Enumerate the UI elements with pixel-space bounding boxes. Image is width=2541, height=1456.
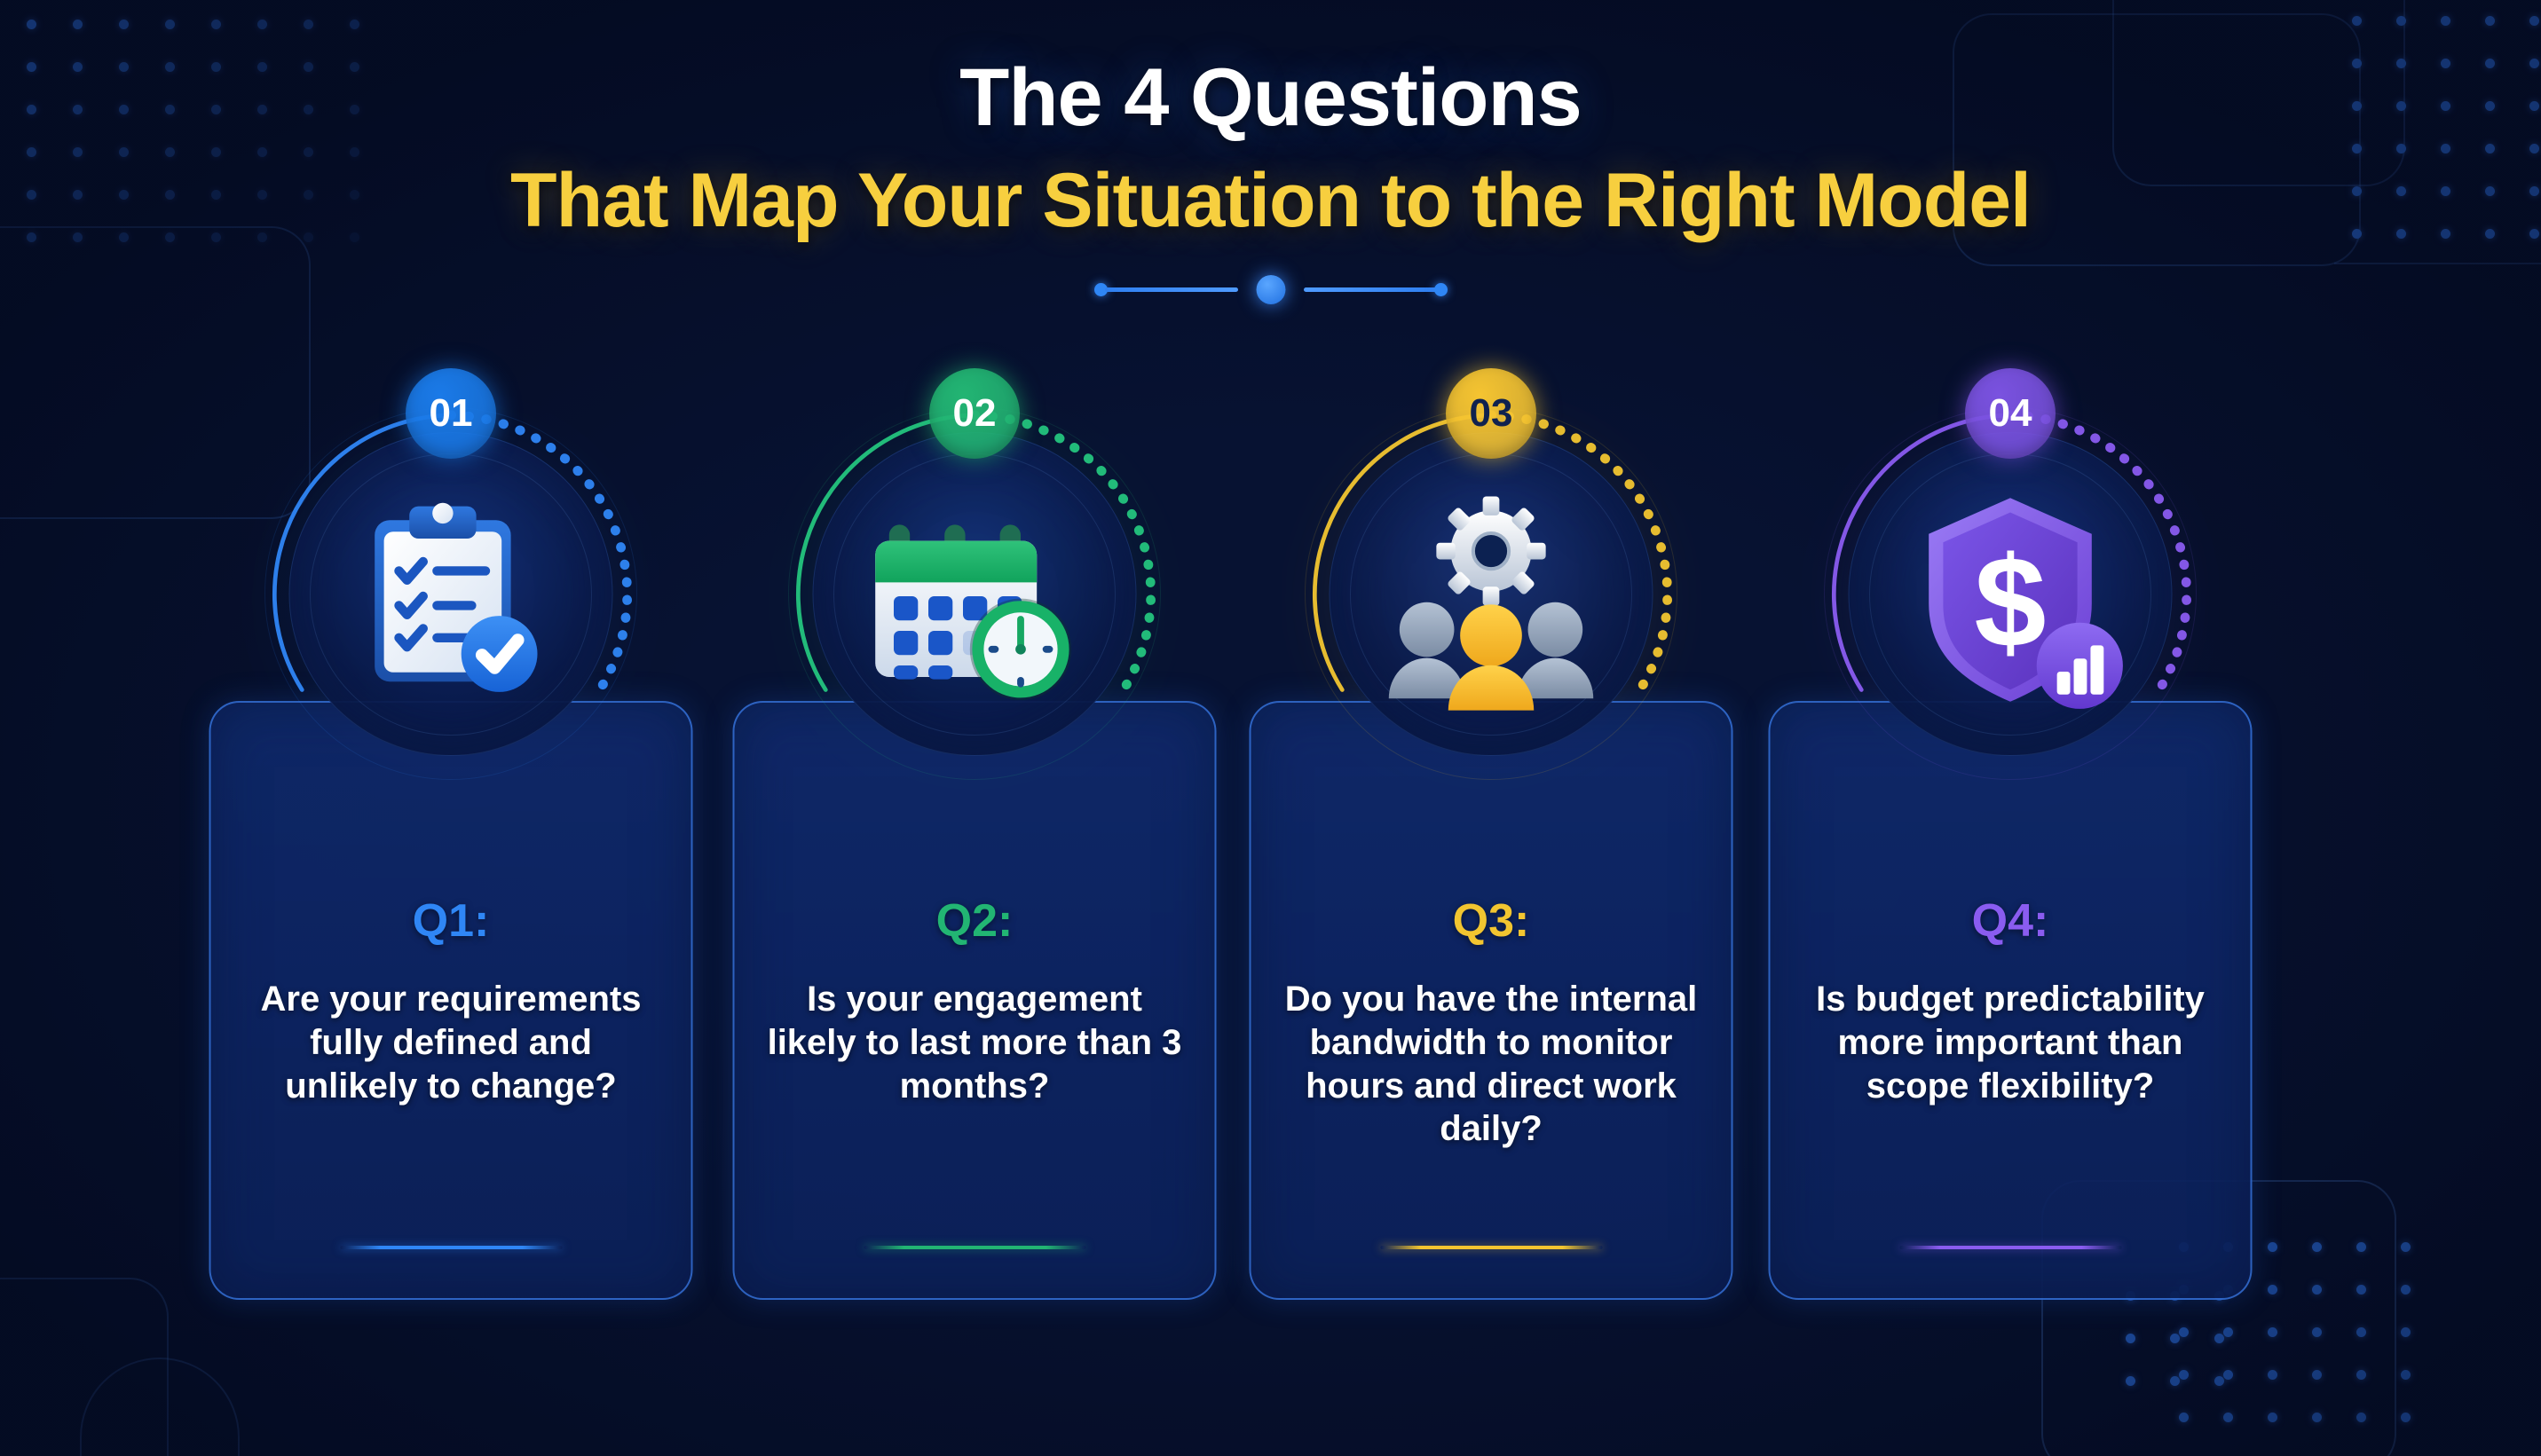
icon-ring-1: 01 bbox=[238, 368, 664, 794]
card-accent-line-4 bbox=[1899, 1246, 2121, 1249]
question-label-4: Q4: bbox=[1972, 898, 2049, 944]
page-title-line-1: The 4 Questions bbox=[0, 51, 2541, 145]
shield-dollar-icon: $ bbox=[1890, 476, 2130, 716]
page-title-line-2: That Map Your Situation to the Right Mod… bbox=[0, 157, 2541, 245]
clipboard-checklist-icon bbox=[322, 468, 580, 725]
question-text-4: Is budget predictability more important … bbox=[1794, 978, 2228, 1107]
question-text-1: Are your requirements fully defined and … bbox=[234, 978, 668, 1107]
step-number-badge-4: 04 bbox=[1965, 368, 2056, 459]
step-number-badge-2: 02 bbox=[929, 368, 1020, 459]
question-text-3: Do you have the internal bandwidth to mo… bbox=[1274, 978, 1708, 1151]
gear-team-icon bbox=[1362, 468, 1620, 725]
card-accent-line-1 bbox=[340, 1246, 562, 1249]
step-number-badge-1: 01 bbox=[406, 368, 496, 459]
divider-line-left bbox=[1105, 287, 1238, 292]
divider-center-dot bbox=[1256, 275, 1285, 304]
question-label-2: Q2: bbox=[936, 898, 1014, 944]
calendar-clock-icon bbox=[859, 481, 1090, 712]
divider-line-right bbox=[1304, 287, 1437, 292]
shield-dollar-icon: $ bbox=[1882, 468, 2139, 725]
step-number-badge-3: 03 bbox=[1446, 368, 1536, 459]
question-label-1: Q1: bbox=[413, 898, 490, 944]
gear-team-icon bbox=[1372, 477, 1610, 715]
card-accent-line-2 bbox=[864, 1246, 1085, 1249]
page-header: The 4 Questions That Map Your Situation … bbox=[0, 0, 2541, 307]
svg-text:$: $ bbox=[1974, 530, 2046, 674]
icon-ring-4: $ 04 bbox=[1797, 368, 2223, 794]
icon-ring-2: 02 bbox=[762, 368, 1188, 794]
clipboard-checklist-icon bbox=[335, 481, 566, 712]
question-text-2: Is your engagement likely to last more t… bbox=[758, 978, 1192, 1107]
calendar-clock-icon bbox=[846, 468, 1103, 725]
card-accent-line-3 bbox=[1380, 1246, 1602, 1249]
divider-dot-right bbox=[1434, 283, 1448, 296]
header-divider bbox=[1089, 272, 1453, 307]
icon-ring-3: 03 bbox=[1278, 368, 1704, 794]
question-label-3: Q3: bbox=[1453, 898, 1530, 944]
